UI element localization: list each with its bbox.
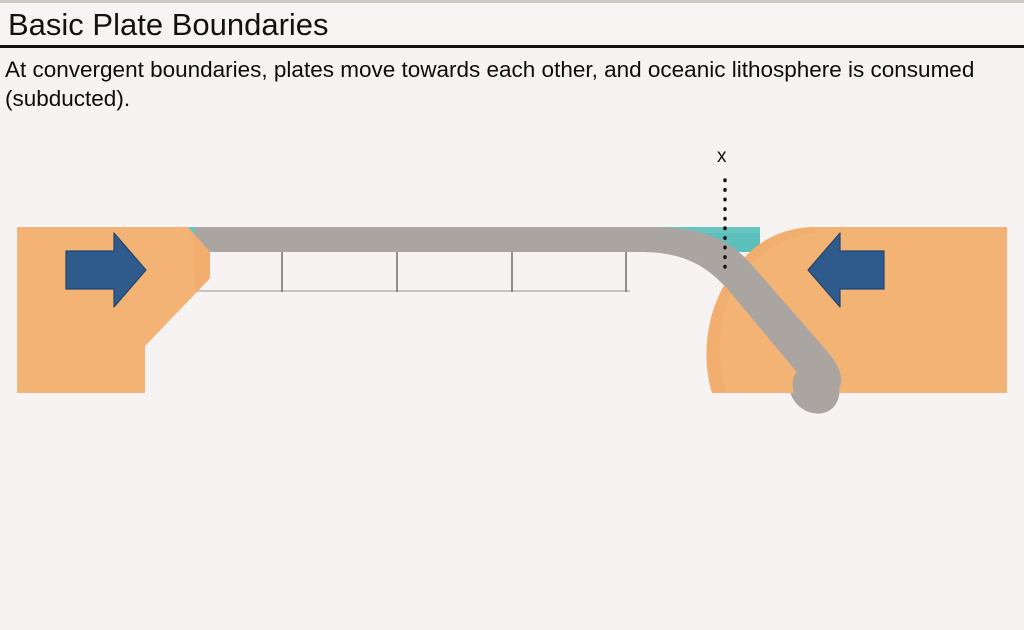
page-title: Basic Plate Boundaries — [8, 6, 329, 44]
slab-segment-dividers — [282, 252, 762, 315]
title-divider-rule — [0, 45, 1024, 48]
trench-marker-label: x — [717, 146, 727, 168]
plate-boundary-diagram — [0, 118, 1024, 448]
body-paragraph: At convergent boundaries, plates move to… — [5, 55, 1017, 113]
slide-canvas: Basic Plate Boundaries At convergent bou… — [0, 0, 1024, 630]
